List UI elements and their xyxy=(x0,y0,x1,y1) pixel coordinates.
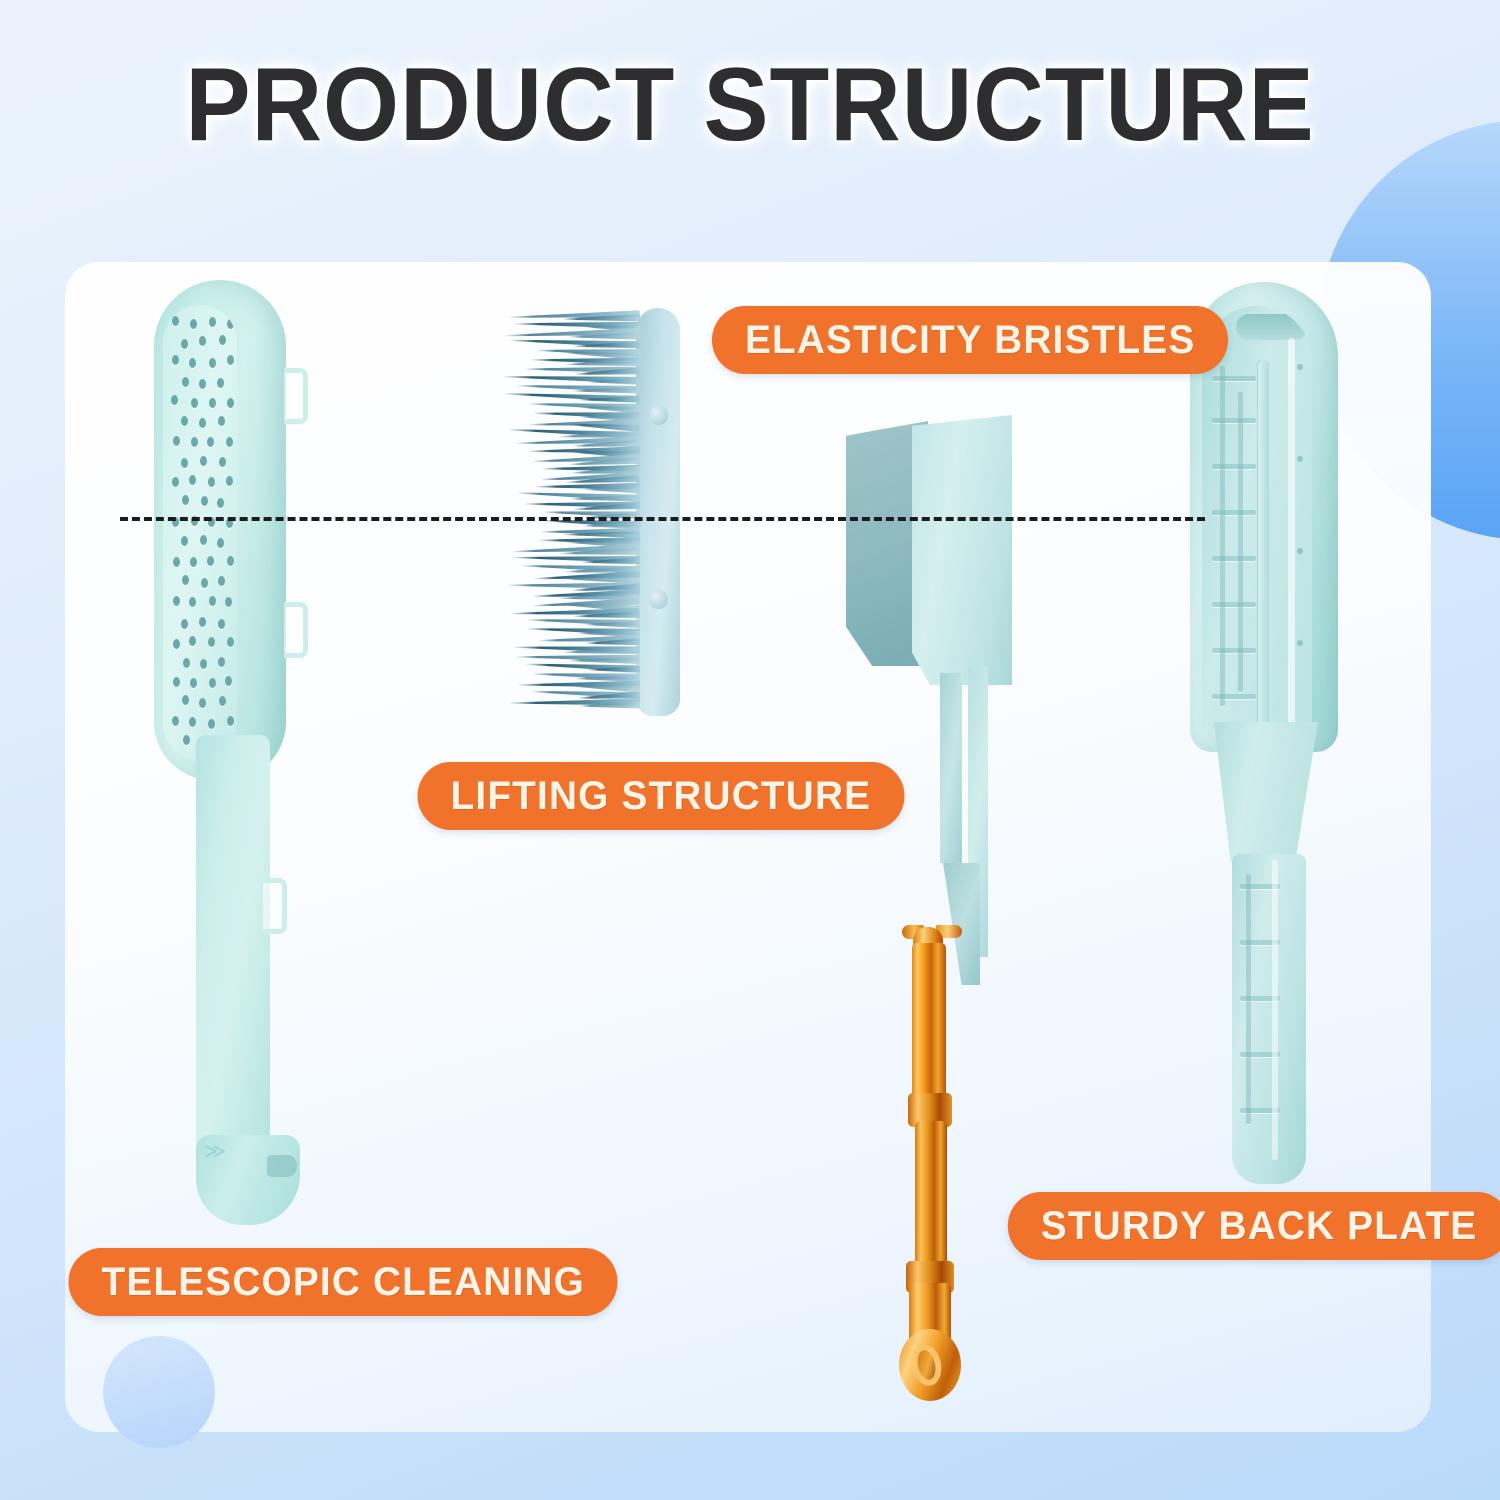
bristle-row xyxy=(490,582,640,589)
bristle-row xyxy=(490,402,640,409)
bristle-row xyxy=(490,627,640,634)
bristle-row xyxy=(490,474,640,481)
bristle-row xyxy=(490,456,640,463)
bristle-socket xyxy=(172,355,179,365)
back-plate-rib xyxy=(1212,464,1256,469)
bristle-socket xyxy=(227,319,234,329)
back-plate-rib-vertical xyxy=(1220,366,1225,706)
bristle-socket xyxy=(219,696,226,706)
bristle-row xyxy=(490,645,640,652)
bristle-socket xyxy=(226,437,233,447)
bristle-socket xyxy=(200,456,207,466)
bristle-row xyxy=(490,411,640,418)
brush-head-shell xyxy=(154,280,286,780)
brush-handle-body xyxy=(196,735,270,1180)
bristle-socket xyxy=(181,416,188,426)
bristle-row xyxy=(490,528,640,535)
bristle-row xyxy=(490,699,640,706)
bristle-socket xyxy=(190,678,197,688)
decorative-circle-bottom-left xyxy=(103,1336,215,1448)
bristle-plate-illustration xyxy=(490,302,680,722)
bristle-row xyxy=(490,483,640,490)
bristle-socket xyxy=(191,437,198,447)
bristle-socket-pad xyxy=(163,305,237,760)
amber-telescopic-rod xyxy=(892,925,966,1400)
bristle-row xyxy=(490,339,640,346)
bristle-socket xyxy=(199,617,206,627)
bristle-row xyxy=(490,654,640,661)
bristle-row xyxy=(490,492,640,499)
bristle-row xyxy=(490,429,640,436)
rod-segment-upper xyxy=(912,943,946,1103)
bristle-row xyxy=(490,564,640,571)
back-plate-pin xyxy=(1297,548,1303,554)
callout-lifting-structure[interactable]: LIFTING STRUCTURE xyxy=(418,762,905,830)
bristle-socket xyxy=(189,358,196,368)
bristle-row xyxy=(490,663,640,670)
back-plate-pin xyxy=(1297,456,1303,462)
bristle-plate-stud xyxy=(649,590,668,609)
back-plate-spine xyxy=(1258,360,1269,738)
callout-telescopic-cleaning[interactable]: TELESCOPIC CLEANING xyxy=(68,1248,617,1316)
bristle-row xyxy=(490,501,640,508)
bristle-socket xyxy=(182,377,189,387)
back-plate-rib xyxy=(1212,556,1256,561)
bristle-plate-stud xyxy=(649,406,668,425)
bristle-socket xyxy=(182,575,189,585)
bristle-row xyxy=(490,447,640,454)
bristle-row xyxy=(490,393,640,400)
bristle-socket xyxy=(181,458,188,468)
bristle-socket xyxy=(199,698,206,708)
bristle-row xyxy=(490,690,640,697)
bristle-socket xyxy=(227,716,234,726)
bristle-row xyxy=(490,420,640,427)
bristle-socket xyxy=(218,657,225,667)
back-plate-pin xyxy=(1297,364,1303,370)
back-plate-rib-vertical xyxy=(1238,392,1243,692)
bristle-socket xyxy=(189,597,196,607)
bristle-row xyxy=(490,672,640,679)
bristle-socket xyxy=(201,578,208,588)
bristle-row xyxy=(490,636,640,643)
bristle-socket xyxy=(181,619,188,629)
bristle-socket xyxy=(183,658,190,668)
bristle-row xyxy=(490,546,640,553)
lifting-structure-illustration xyxy=(840,415,1030,1400)
bristle-row xyxy=(490,321,640,328)
bristle-socket xyxy=(209,317,216,327)
bristle-socket xyxy=(189,475,196,485)
bristle-socket xyxy=(217,538,224,548)
brush-side-clip xyxy=(284,602,308,658)
bristle-socket xyxy=(209,358,216,368)
back-plate-illustration xyxy=(1190,282,1350,1182)
handle-rail xyxy=(1272,860,1278,1160)
bristle-socket xyxy=(218,576,225,586)
bristle-socket xyxy=(207,437,214,447)
back-plate-neck xyxy=(1214,722,1318,862)
bristle-socket xyxy=(173,639,180,649)
bristle-socket xyxy=(181,339,188,349)
back-plate-rib xyxy=(1212,510,1256,515)
bristle-socket xyxy=(199,418,206,428)
bristle-row xyxy=(490,510,640,517)
bristle-socket xyxy=(173,436,180,446)
back-plate-inner-cavity xyxy=(1202,306,1312,738)
bristle-row xyxy=(490,465,640,472)
bristle-row xyxy=(490,609,640,616)
bristle-row xyxy=(490,366,640,373)
bristle-socket xyxy=(172,316,179,326)
page-title: PRODUCT STRUCTURE xyxy=(45,52,1455,158)
bristle-socket xyxy=(172,477,179,487)
back-plate-top-slot xyxy=(1236,314,1308,340)
bristle-row xyxy=(490,348,640,355)
lifting-shaft-rear xyxy=(940,673,962,863)
bristle-socket xyxy=(199,336,206,346)
bristle-socket xyxy=(173,677,180,687)
bristle-socket xyxy=(208,637,215,647)
bristle-socket xyxy=(227,355,234,365)
bristle-row xyxy=(490,591,640,598)
brush-side-clip xyxy=(263,878,287,934)
telescopic-brush-illustration: ≫ xyxy=(140,280,340,1220)
release-arrow-icon: ≫ xyxy=(204,1142,230,1162)
bristle-row xyxy=(490,573,640,580)
bristle-socket xyxy=(208,719,215,729)
brush-foot-notch xyxy=(267,1155,297,1177)
bristle-socket xyxy=(173,596,180,606)
infographic-stage: PRODUCT STRUCTURE ≫ xyxy=(0,0,1500,1500)
alignment-dashed-line xyxy=(120,517,1205,521)
bristle-socket xyxy=(172,716,179,726)
bristle-socket xyxy=(225,676,232,686)
bristle-socket xyxy=(189,636,196,646)
bristle-socket xyxy=(182,495,189,505)
back-plate-rail xyxy=(1288,338,1295,738)
bristle-backing-plate xyxy=(636,308,680,716)
handle-rib-vertical xyxy=(1246,874,1251,1124)
back-plate-handle xyxy=(1232,854,1306,1184)
bristle-socket xyxy=(227,398,234,408)
bristle-socket xyxy=(207,556,214,566)
bristle-socket xyxy=(208,477,215,487)
bristle-socket xyxy=(200,659,207,669)
brush-side-clip xyxy=(284,368,308,424)
bristle-socket xyxy=(209,596,216,606)
bristle-socket xyxy=(181,536,188,546)
bristle-socket xyxy=(219,457,226,467)
bristle-socket xyxy=(200,535,207,545)
bristle-socket xyxy=(217,498,224,508)
bristle-row xyxy=(490,312,640,319)
bristle-socket xyxy=(183,735,190,745)
bristle-socket xyxy=(190,319,197,329)
bristle-row xyxy=(490,375,640,382)
callout-sturdy-back-plate[interactable]: STURDY BACK PLATE xyxy=(1008,1192,1500,1260)
bristle-row xyxy=(490,681,640,688)
bristle-socket xyxy=(225,597,232,607)
bristle-socket xyxy=(218,619,225,629)
bristle-row xyxy=(490,357,640,364)
callout-elasticity-bristles[interactable]: ELASTICITY BRISTLES xyxy=(712,306,1228,374)
bristle-socket xyxy=(201,496,208,506)
bristle-socket xyxy=(171,395,178,405)
bristle-socket xyxy=(217,378,224,388)
bristle-socket xyxy=(219,335,226,345)
bristle-socket xyxy=(191,398,198,408)
bristle-socket xyxy=(209,678,216,688)
back-plate-pin xyxy=(1297,640,1303,646)
bristle-row xyxy=(490,600,640,607)
bristle-row xyxy=(490,438,640,445)
back-plate-rib xyxy=(1212,376,1256,381)
back-plate-rib xyxy=(1212,418,1256,423)
rod-segment-middle xyxy=(915,1121,947,1271)
bristle-socket xyxy=(190,557,197,567)
bristle-socket xyxy=(226,476,233,486)
back-plate-rib xyxy=(1212,602,1256,607)
bristle-socket xyxy=(189,717,196,727)
bristle-row xyxy=(490,330,640,337)
bristle-socket xyxy=(218,416,225,426)
bristle-row xyxy=(490,618,640,625)
bristle-socket xyxy=(173,557,180,567)
bristle-row xyxy=(490,555,640,562)
bristle-row xyxy=(490,384,640,391)
lifting-block-front-face xyxy=(912,415,1012,685)
bristle-socket xyxy=(199,379,206,389)
bristle-socket xyxy=(227,556,234,566)
bristle-socket xyxy=(227,637,234,647)
back-plate-rib xyxy=(1212,648,1256,653)
bristle-row xyxy=(490,537,640,544)
bristle-socket xyxy=(209,398,216,408)
back-plate-rib xyxy=(1212,694,1256,699)
bristle-socket xyxy=(182,695,189,705)
